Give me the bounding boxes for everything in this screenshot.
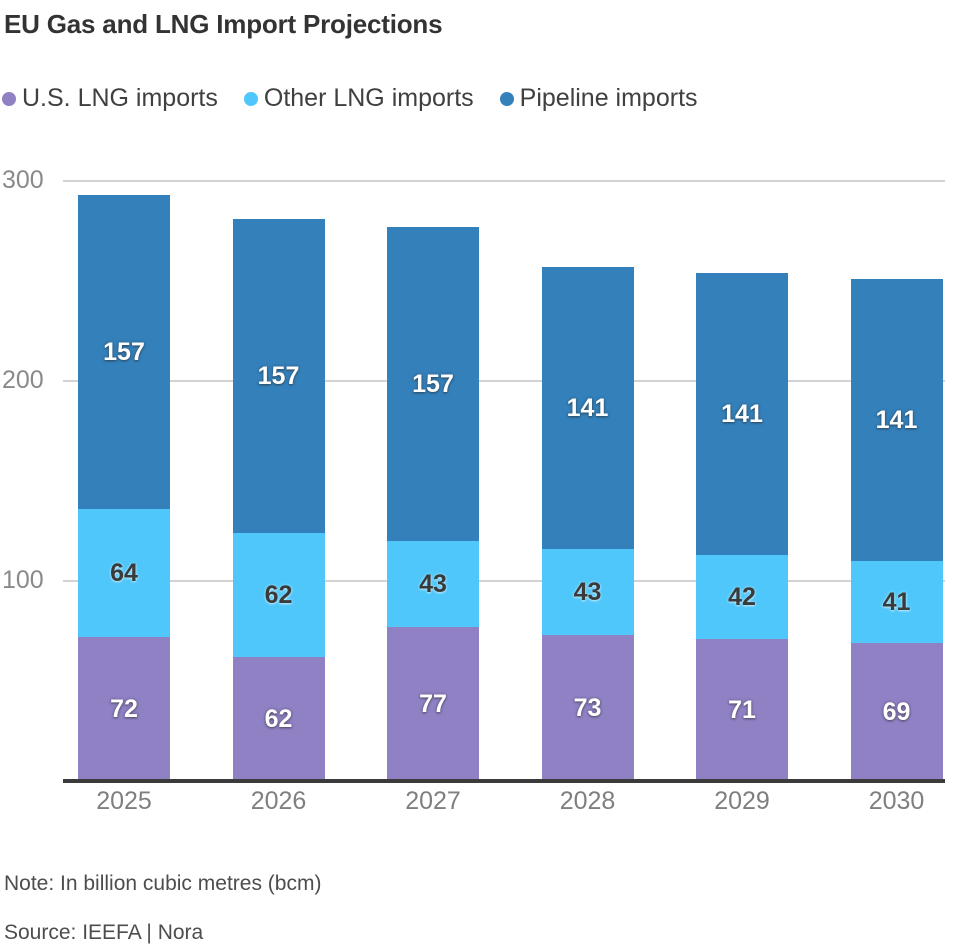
y-axis-tick-label: 300 bbox=[2, 168, 57, 193]
bar-value-label: 157 bbox=[103, 340, 145, 365]
bar-value-label: 141 bbox=[567, 396, 609, 421]
gridline bbox=[63, 380, 945, 382]
bar-segment[interactable]: 141 bbox=[542, 267, 634, 549]
bar-segment[interactable]: 42 bbox=[696, 555, 788, 639]
bar-stack[interactable]: 1574377 bbox=[387, 227, 479, 781]
chart-container: EU Gas and LNG Import Projections U.S. L… bbox=[0, 0, 960, 950]
bar-value-label: 64 bbox=[110, 561, 138, 586]
bar-segment[interactable]: 71 bbox=[696, 639, 788, 781]
bar-segment[interactable]: 41 bbox=[851, 561, 943, 643]
bar-value-label: 62 bbox=[265, 583, 293, 608]
y-axis-tick-label: 200 bbox=[2, 368, 57, 393]
chart-note: Note: In billion cubic metres (bcm) bbox=[4, 873, 321, 894]
bar-value-label: 73 bbox=[574, 696, 602, 721]
bar-stack[interactable]: 1576262 bbox=[233, 219, 325, 781]
chart-source: Source: IEEFA | Nora bbox=[4, 922, 203, 943]
bar-stack[interactable]: 1414373 bbox=[542, 267, 634, 781]
bar-segment[interactable]: 157 bbox=[387, 227, 479, 541]
bar-segment[interactable]: 62 bbox=[233, 533, 325, 657]
x-axis-tick-label: 2025 bbox=[78, 789, 170, 814]
x-axis-tick-label: 2027 bbox=[387, 789, 479, 814]
bar-value-label: 71 bbox=[728, 698, 756, 723]
bar-segment[interactable]: 77 bbox=[387, 627, 479, 781]
bar-segment[interactable]: 43 bbox=[387, 541, 479, 627]
gridline bbox=[63, 580, 945, 582]
bar-value-label: 42 bbox=[728, 585, 756, 610]
x-axis-tick-label: 2026 bbox=[233, 789, 325, 814]
bar-value-label: 141 bbox=[721, 402, 763, 427]
bar-value-label: 41 bbox=[883, 590, 911, 615]
bar-segment[interactable]: 43 bbox=[542, 549, 634, 635]
x-axis-tick-label: 2030 bbox=[851, 789, 943, 814]
bar-segment[interactable]: 141 bbox=[851, 279, 943, 561]
y-axis-tick-label: 100 bbox=[2, 568, 57, 593]
bar-value-label: 141 bbox=[876, 408, 918, 433]
bar-value-label: 72 bbox=[110, 697, 138, 722]
bar-value-label: 43 bbox=[419, 572, 447, 597]
bar-segment[interactable]: 69 bbox=[851, 643, 943, 781]
plot-area: 1002003001576472202515762622026157437720… bbox=[0, 0, 960, 950]
bar-segment[interactable]: 64 bbox=[78, 509, 170, 637]
x-axis-tick-label: 2028 bbox=[542, 789, 634, 814]
bar-value-label: 157 bbox=[412, 372, 454, 397]
bar-segment[interactable]: 72 bbox=[78, 637, 170, 781]
bar-segment[interactable]: 141 bbox=[696, 273, 788, 555]
gridline bbox=[63, 180, 945, 182]
bar-value-label: 62 bbox=[265, 707, 293, 732]
x-axis-line bbox=[63, 779, 945, 783]
bar-stack[interactable]: 1576472 bbox=[78, 195, 170, 781]
bar-value-label: 77 bbox=[419, 692, 447, 717]
bar-segment[interactable]: 157 bbox=[233, 219, 325, 533]
bar-stack[interactable]: 1414169 bbox=[851, 279, 943, 781]
bar-value-label: 69 bbox=[883, 700, 911, 725]
bar-segment[interactable]: 62 bbox=[233, 657, 325, 781]
bar-segment[interactable]: 73 bbox=[542, 635, 634, 781]
bar-value-label: 157 bbox=[258, 364, 300, 389]
x-axis-tick-label: 2029 bbox=[696, 789, 788, 814]
bar-stack[interactable]: 1414271 bbox=[696, 273, 788, 781]
bar-value-label: 43 bbox=[574, 580, 602, 605]
bar-segment[interactable]: 157 bbox=[78, 195, 170, 509]
